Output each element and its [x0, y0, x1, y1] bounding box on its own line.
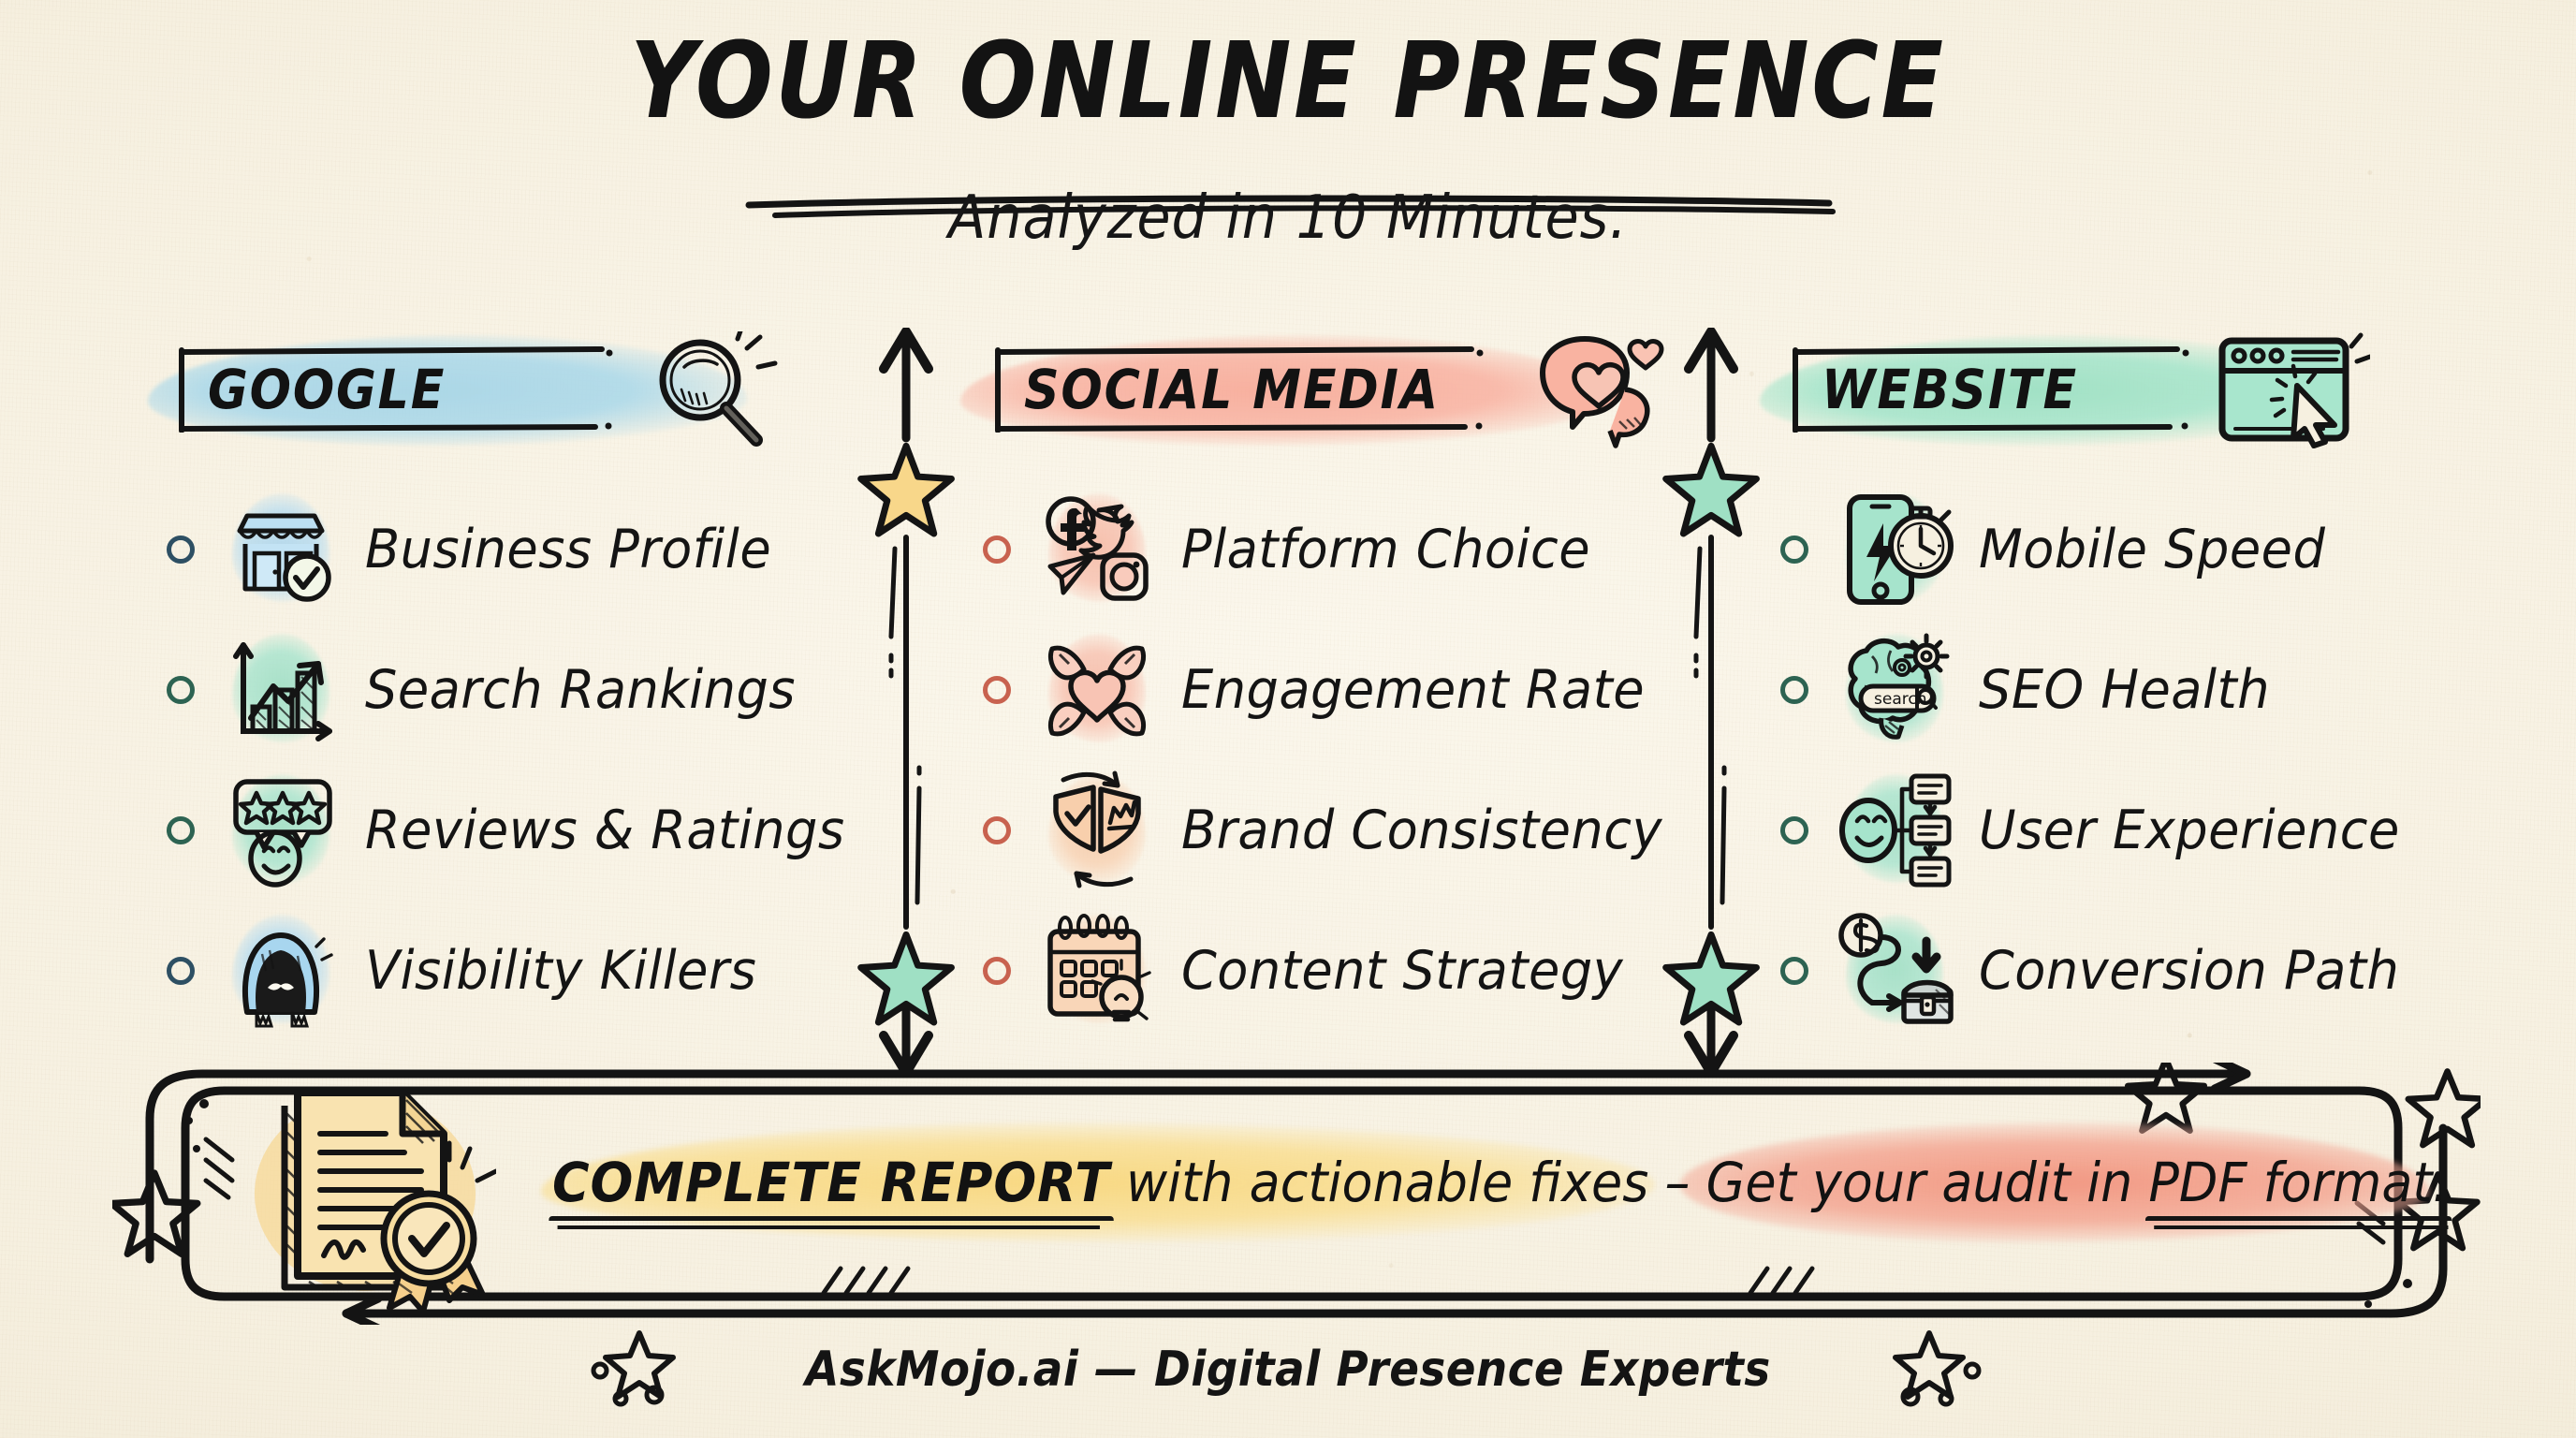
bar-chart-arrow-icon [219, 628, 343, 752]
list-item[interactable]: Visibility Killers [165, 901, 876, 1041]
column-heading-social-media: SOCIAL MEDIA [1024, 358, 1440, 421]
list-item-label: Brand Consistency [1181, 800, 1662, 861]
banner-text-area: COMPLETE REPORT with actionable fixes – … [552, 1117, 2434, 1248]
bullet-marker [983, 816, 1011, 844]
complete-report-banner[interactable]: COMPLETE REPORT with actionable fixes – … [112, 1063, 2481, 1325]
bullet-marker [1780, 536, 1808, 564]
column-heading-google: GOOGLE [208, 358, 446, 421]
certificate-seal-icon [253, 1072, 496, 1315]
list-item-label: Business Profile [365, 519, 771, 580]
list-item[interactable]: Brand Consistency [981, 760, 1674, 901]
hooded-figure-icon [219, 909, 343, 1033]
list-item-label: Search Rankings [365, 659, 796, 721]
star-top [861, 446, 952, 534]
banner-text: COMPLETE REPORT with actionable fixes – … [552, 1151, 2449, 1214]
chat-heart-icon [1505, 331, 1664, 453]
stars-sparkles-icon [587, 1328, 727, 1412]
bullet-marker [1780, 957, 1808, 985]
column-header-website: WEBSITE [1778, 330, 2518, 453]
social-networks-icon [1035, 488, 1159, 611]
list-item[interactable]: search SEO Health [1778, 620, 2518, 760]
list-item[interactable]: Content Strategy [981, 901, 1674, 1041]
list-item-label: User Experience [1979, 800, 2400, 861]
divider-arrow-1 [850, 328, 962, 1077]
website-item-list: Mobile Speed [1778, 479, 2518, 1041]
stars-smiley-icon [219, 769, 343, 892]
page-title: YOUR ONLINE PRESENCE [181, 28, 2396, 135]
list-item-label: Visibility Killers [365, 940, 756, 1002]
column-header-social-media: SOCIAL MEDIA [981, 330, 1674, 453]
list-item-label: Engagement Rate [1181, 659, 1645, 721]
column-social-media: SOCIAL MEDIA [981, 330, 1674, 453]
magnifier-icon [633, 331, 792, 453]
browser-cursor-icon [2211, 331, 2370, 453]
list-item[interactable]: Search Rankings [165, 620, 876, 760]
column-header-google: GOOGLE [165, 330, 876, 453]
list-item-label: SEO Health [1979, 659, 2270, 721]
bullet-marker [1780, 676, 1808, 704]
storefront-check-icon [219, 488, 343, 611]
infographic-stage: YOUR ONLINE PRESENCE Analyzed in 10 Minu… [0, 0, 2576, 1438]
footer-text: AskMojo.ai — Digital Presence Experts [805, 1342, 1770, 1398]
list-item[interactable]: Platform Choice [981, 479, 1674, 620]
list-item-label: Reviews & Ratings [365, 800, 845, 861]
bullet-marker [983, 957, 1011, 985]
title-block: YOUR ONLINE PRESENCE Analyzed in 10 Minu… [0, 28, 2576, 253]
calendar-bulb-icon [1035, 909, 1159, 1033]
list-item-label: Platform Choice [1181, 519, 1590, 580]
social-media-item-list: Platform Choice [981, 479, 1674, 1041]
bullet-marker [1780, 816, 1808, 844]
page-subtitle: Analyzed in 10 Minutes. [103, 183, 2473, 253]
bullet-marker [167, 957, 195, 985]
bullet-marker [983, 536, 1011, 564]
list-item[interactable]: Mobile Speed [1778, 479, 2518, 620]
banner-underlined-text: PDF format. [2148, 1151, 2448, 1214]
brain-search-gear-icon: search [1833, 628, 1956, 752]
smiley-flowchart-icon [1833, 769, 1956, 892]
divider-arrow-2 [1655, 328, 1767, 1077]
column-heading-website: WEBSITE [1822, 358, 2078, 421]
column-website: WEBSITE [1778, 330, 2518, 453]
banner-strong-text: COMPLETE REPORT [552, 1151, 1110, 1214]
phone-stopwatch-icon [1833, 488, 1956, 611]
banner-mid-text: with actionable fixes – Get your audit i… [1110, 1151, 2148, 1214]
shields-crown-icon [1035, 769, 1159, 892]
bullet-marker [983, 676, 1011, 704]
bullet-marker [167, 816, 195, 844]
column-google: GOOGLE [165, 330, 876, 453]
list-item-label: Content Strategy [1181, 940, 1623, 1002]
list-item-label: Conversion Path [1979, 940, 2399, 1002]
list-item[interactable]: User Experience [1778, 760, 2518, 901]
footer: AskMojo.ai — Digital Presence Experts [0, 1328, 2576, 1412]
bullet-marker [167, 676, 195, 704]
list-item-label: Mobile Speed [1979, 519, 2325, 580]
star-top [1666, 446, 1757, 534]
hands-heart-icon [1035, 628, 1159, 752]
list-item[interactable]: Engagement Rate [981, 620, 1674, 760]
list-item[interactable]: Conversion Path [1778, 901, 2518, 1041]
coin-chest-path-icon [1833, 909, 1956, 1033]
list-item[interactable]: Reviews & Ratings [165, 760, 876, 901]
list-item[interactable]: Business Profile [165, 479, 876, 620]
bullet-marker [167, 536, 195, 564]
google-item-list: Business Profile [165, 479, 876, 1041]
stars-sparkles-icon [1849, 1328, 1989, 1412]
